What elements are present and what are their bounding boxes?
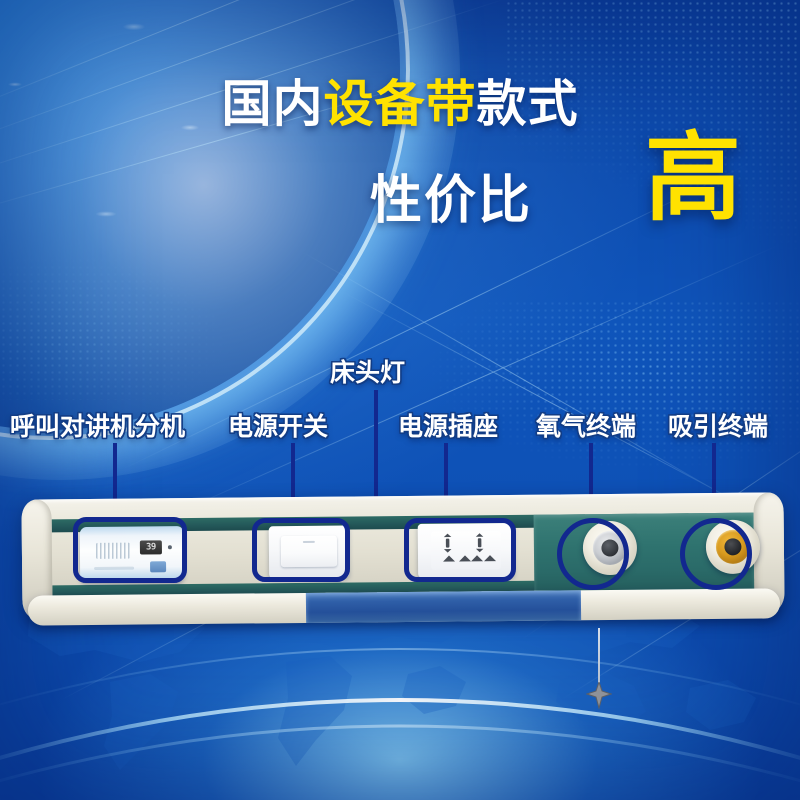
headline-part-1: 国内	[222, 75, 324, 133]
callout-label-intercom: 呼叫对讲机分机	[10, 414, 185, 439]
light-streak-8	[340, 290, 764, 516]
headline-part-3: 款式	[477, 75, 579, 133]
callout-label-oxygen-outlet: 氧气终端	[536, 414, 636, 439]
socket-highlight	[404, 518, 516, 582]
suction-highlight	[680, 518, 752, 590]
halftone-dots-mid	[430, 300, 800, 470]
callout-label-power-socket: 电源插座	[398, 414, 498, 439]
switch-highlight	[252, 518, 350, 582]
callout-label-power-switch: 电源开关	[228, 414, 328, 439]
intercom-highlight	[73, 517, 187, 583]
callout-label-bed-lamp: 床头灯	[330, 360, 405, 385]
callout-label-suction-outlet: 吸引终端	[668, 414, 768, 439]
rail-glass-section	[306, 590, 581, 623]
headline-block: 国内设备带款式 性价比 高	[0, 78, 800, 131]
pull-cord-handle-icon[interactable]	[586, 682, 612, 710]
pull-cord[interactable]	[598, 628, 600, 690]
headline-emphasis: 高	[645, 130, 741, 226]
product-banner: 国内设备带款式 性价比 高 呼叫对讲机分机电源开关床头灯电源插座氧气终端吸引终端…	[0, 0, 800, 800]
lower-rail	[28, 588, 780, 625]
oxygen-highlight	[557, 518, 629, 590]
headline-part-2: 设备带	[324, 75, 477, 133]
headline-value-label: 性价比	[370, 158, 532, 233]
